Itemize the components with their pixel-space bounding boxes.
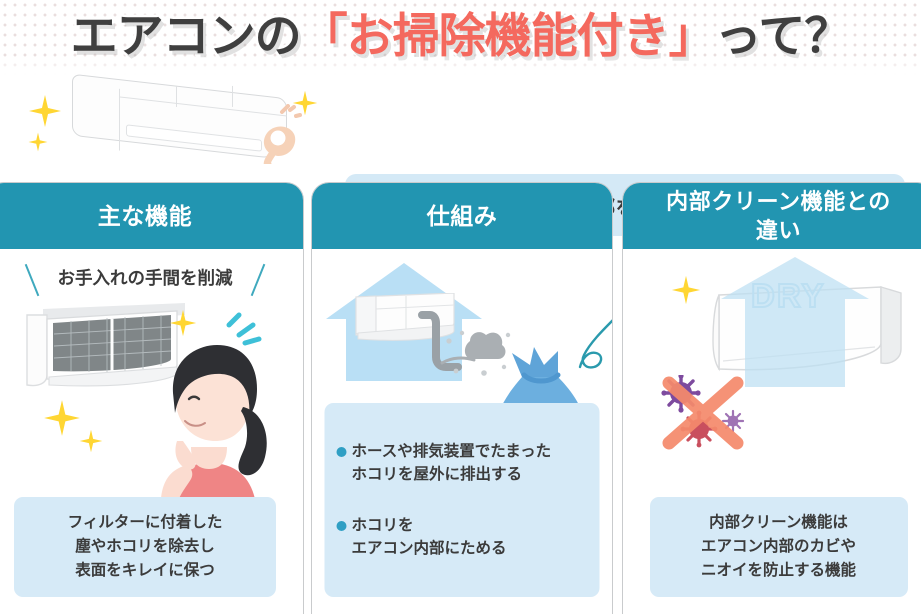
bullet-text: ホースや排気装置でたまった ホコリを屋外に排出する [352,440,552,486]
bullet-text: ホコリを エアコン内部にためる [352,514,507,560]
card-header-main-functions: 主な機能 [0,183,303,249]
red-cross-icon [657,373,753,451]
card-body-internal-clean: DRY [623,249,921,614]
card-header-internal-clean: 内部クリーン機能との 違い [623,183,921,249]
infographic-root: エアコンの「お掃除機能付き」って？ [0,0,921,614]
woman-thinking-icon [137,337,277,517]
card-header-mechanism: 仕組み [312,183,612,249]
bullet-dot-icon [337,521,347,531]
title-highlight: 「お掃除機能付き」 [301,9,715,62]
bullet-item: ホースや排気装置でたまった ホコリを屋外に排出する [337,440,590,486]
title-band: エアコンの「お掃除機能付き」って？ [0,0,921,78]
page-title: エアコンの「お掃除機能付き」って？ [0,3,921,69]
card-caption-mechanism: ホースや排気装置でたまった ホコリを屋外に排出する ホコリを エアコン内部にため… [325,403,600,597]
title-part1: エアコンの [71,9,301,62]
sparkle-icon [28,132,48,152]
card-mechanism[interactable]: 仕組み [311,182,613,614]
card-main-functions[interactable]: 主な機能 お手入れの手間を削減 [0,182,304,614]
cards-row: 主な機能 お手入れの手間を削減 [0,182,921,614]
title-part2: って？ [715,9,851,62]
card-caption-main-functions: フィルターに付着した 塵やホコリを除去し 表面をキレイに保つ [14,497,276,597]
bullet-item: ホコリを エアコン内部にためる [337,514,590,560]
card-body-mechanism: or ホースや排気装置でたま [312,249,612,614]
swirl-decor-icon [574,317,613,371]
card-body-main-functions: お手入れの手間を削減 [0,249,303,614]
ok-hand-icon [252,104,304,164]
dry-label: DRY [751,277,825,315]
bullet-dot-icon [337,447,347,457]
card-internal-clean-difference[interactable]: 内部クリーン機能との 違い [622,182,921,614]
sparkle-icon [28,94,62,128]
hero-row: 日頃のお手入れの一部を自動でしてくれる機能 [0,74,921,178]
card-caption-internal-clean: 内部クリーン機能は エアコン内部のカビや ニオイを防止する機能 [650,497,908,597]
